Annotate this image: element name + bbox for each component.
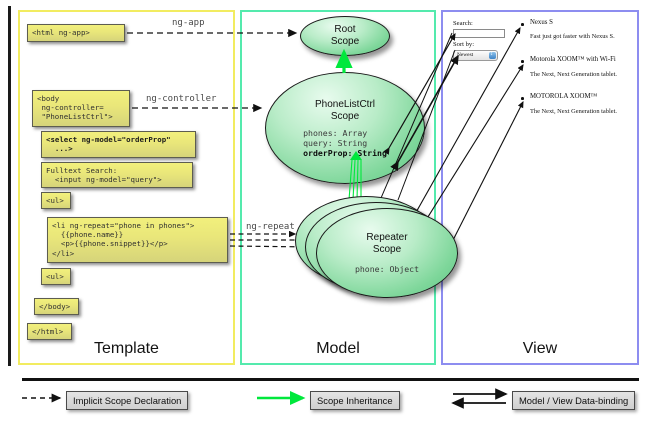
view-phone-name[interactable]: Motorola XOOM™ with Wi-Fi — [530, 56, 616, 63]
legend-glyph-double — [453, 394, 506, 403]
scope-prop-query: query: String — [303, 138, 367, 148]
panel-template-label: Template — [20, 340, 233, 358]
root-scope-title: RootScope — [331, 24, 359, 48]
scope-prop-phones: phones: Array — [303, 128, 367, 138]
list-bullet — [521, 60, 524, 63]
view-sort-label: Sort by: — [453, 41, 474, 48]
legend-model-view-databinding: Model / View Data-binding — [512, 391, 635, 410]
repeater-scope-title: RepeaterScope — [366, 232, 407, 256]
body-close-box: </body> — [34, 298, 79, 315]
legend-separator-rule — [22, 378, 639, 381]
panel-view: View — [441, 10, 639, 365]
view-phone-name[interactable]: MOTOROLA XOOM™ — [530, 93, 597, 100]
root-scope: RootScope — [300, 16, 390, 56]
view-phone-name[interactable]: Nexus S — [530, 19, 553, 26]
ul-close-box: <ul> — [41, 268, 71, 285]
phonelistctrl-scope-props: phones: Arrayquery: StringorderProp: Str… — [303, 128, 387, 158]
html-close-box: </html> — [27, 323, 72, 340]
view-search-label: Search: — [453, 20, 473, 27]
view-phone-snippet: Fast just got faster with Nexus S. — [530, 33, 615, 40]
legend-implicit-scope-declaration: Implicit Scope Declaration — [66, 391, 188, 410]
diagram-canvas: Template Model View <html ng-app> <body … — [0, 0, 661, 425]
view-sort-selected-value: Newest — [457, 52, 473, 58]
ul-open-box: <ul> — [41, 192, 71, 209]
scope-prop-orderprop: orderProp: String — [303, 148, 387, 158]
list-bullet — [521, 97, 524, 100]
list-bullet — [521, 23, 524, 26]
repeater-scope-props: phone: Object — [355, 264, 419, 274]
repeater-scope: RepeaterScope phone: Object — [316, 208, 458, 298]
view-phone-snippet: The Next, Next Generation tablet. — [530, 71, 617, 78]
panel-model: Model — [240, 10, 436, 365]
html-tag-box: <html ng-app> — [27, 24, 125, 42]
phonelistctrl-scope-title: PhoneListCtrlScope — [315, 99, 375, 123]
chevron-updown-icon[interactable] — [489, 52, 496, 59]
view-phone-snippet: The Next, Next Generation tablet. — [530, 108, 617, 115]
label-ng-repeat: ng-repeat — [246, 222, 295, 232]
view-sort-select[interactable]: Newest — [453, 50, 498, 61]
legend-scope-inheritance: Scope Inheritance — [310, 391, 400, 410]
label-ng-controller: ng-controller — [146, 94, 216, 104]
left-border-rule — [8, 6, 11, 366]
select-orderprop-box: <select ng-model="orderProp" ...> — [41, 131, 196, 158]
label-ng-app: ng-app — [172, 18, 205, 28]
view-search-input[interactable] — [453, 29, 505, 38]
body-controller-box: <body ng-controller= "PhoneListCtrl"> — [32, 90, 130, 127]
panel-model-label: Model — [242, 340, 434, 358]
li-ng-repeat-box: <li ng-repeat="phone in phones"> {{phone… — [47, 217, 228, 263]
panel-view-label: View — [443, 340, 637, 358]
phonelistctrl-scope: PhoneListCtrlScope phones: Arrayquery: S… — [265, 72, 425, 184]
fulltext-search-box: Fulltext Search: <input ng-model="query"… — [41, 162, 193, 188]
